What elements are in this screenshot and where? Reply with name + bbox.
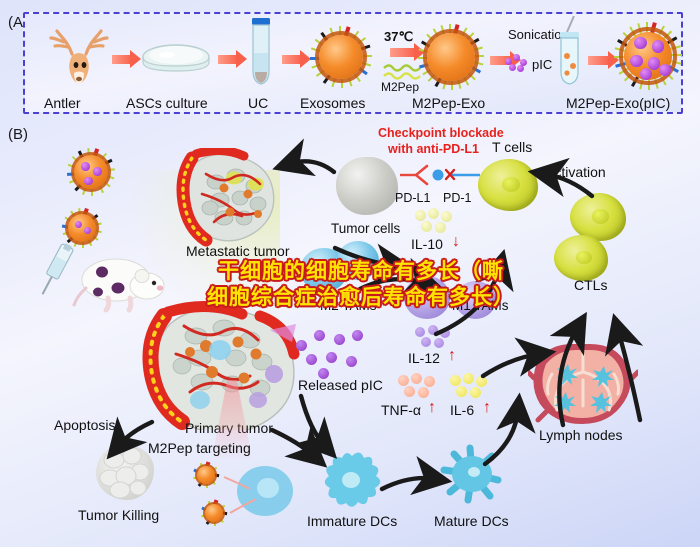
tumor-cells-label: Tumor cells (331, 222, 400, 236)
pic-particles-icon (505, 54, 529, 72)
ctl-cell-icon-1 (570, 193, 626, 241)
il10-cytokine-dots (415, 208, 457, 236)
temperature-label: 37℃ (384, 30, 413, 43)
activation-label: Activation (545, 165, 606, 179)
m2pep-label: M2Pep (381, 81, 419, 93)
process-arrow-1 (112, 55, 132, 64)
process-arrow-4 (390, 48, 416, 57)
immature-dcs-label: Immature DCs (307, 514, 397, 528)
il6-up-arrow: ↑ (483, 400, 491, 416)
targeting-exosome-icon-1 (193, 462, 219, 488)
pd1-label: PD-1 (443, 192, 471, 205)
lymph-nodes-label: Lymph nodes (539, 428, 623, 442)
injected-exosome-icon-2 (62, 208, 102, 248)
panel-a-step-label-antler: Antler (44, 96, 81, 110)
ctls-label: CTLs (574, 278, 607, 292)
released-pic-dots (296, 330, 368, 378)
il12-up-arrow: ↑ (448, 348, 456, 364)
released-pic-label: Released pIC (298, 378, 383, 392)
panel-a-step-label-asc: ASCs culture (126, 96, 208, 110)
panel-b-letter: (B) (8, 126, 28, 143)
tumor-cells-icon (336, 157, 398, 215)
targeting-exosome-icon-2 (201, 500, 227, 526)
il6-label: IL-6 (450, 403, 474, 417)
metastatic-tumor-label: Metastatic tumor (186, 244, 289, 258)
process-arrow-2 (218, 55, 238, 64)
m2pep-targeting-label: M2Pep targeting (148, 441, 251, 455)
petri-dish-icon (140, 40, 212, 78)
overlay-line-1: 干细胞的细胞寿命有多长（嘶 (186, 258, 536, 284)
panel-a-step-label-loaded: M2Pep-Exo(pIC) (566, 96, 670, 110)
tnfa-cytokine-dots (398, 373, 440, 401)
il12-label: IL-12 (408, 351, 440, 365)
peptide-exosome-icon (418, 24, 484, 90)
t-cells-label: T cells (492, 140, 532, 154)
il10-label: IL-10 (411, 237, 443, 251)
checkpoint-blockade-label-line1: Checkpoint blockade (378, 127, 504, 140)
pic-label: pIC (532, 58, 552, 71)
tumor-killing-label: Tumor Killing (78, 508, 159, 522)
exosome-icon (310, 26, 372, 88)
pdl1-label: PD-L1 (395, 192, 430, 205)
tnfa-label: TNF-α (381, 403, 421, 417)
il6-cytokine-dots (450, 373, 492, 401)
deer-antler-icon (46, 24, 112, 86)
t-cell-icon-1 (478, 159, 538, 211)
process-arrow-3 (282, 55, 302, 64)
loaded-exosome-icon (614, 22, 682, 90)
overlay-watermark-text: 干细胞的细胞寿命有多长（嘶 细胞综合症治愈后寿命有多长） (186, 258, 536, 310)
panel-a-step-label-m2pepexo: M2Pep-Exo (412, 96, 485, 110)
overlay-line-2: 细胞综合症治愈后寿命有多长） (186, 284, 536, 310)
checkpoint-blockade-label-line2: with anti-PD-L1 (388, 143, 479, 156)
mature-dc-icon (432, 440, 512, 514)
scientific-figure: (A) Antler ASCs c (0, 0, 700, 547)
mature-dcs-label: Mature DCs (434, 514, 509, 528)
metastatic-tumor-icon (176, 148, 291, 252)
sonicator-tube-icon (556, 16, 584, 90)
panel-a-step-label-uc: UC (248, 96, 268, 110)
immature-dc-icon (316, 448, 388, 514)
centrifuge-tube-icon (248, 18, 274, 88)
apoptosis-label: Apoptosis (54, 418, 115, 432)
il10-down-arrow: ↓ (452, 234, 460, 250)
lymph-node-icon (528, 340, 638, 430)
pdl1-pd1-receptor-icon (398, 160, 484, 192)
tnfa-up-arrow: ↑ (428, 400, 436, 416)
panel-a-step-label-exosomes: Exosomes (300, 96, 365, 110)
ctl-cell-icon-2 (554, 235, 608, 281)
process-arrow-6 (588, 56, 610, 65)
apoptotic-tumor-icon (96, 444, 154, 500)
injected-exosome-icon-1 (67, 148, 115, 196)
